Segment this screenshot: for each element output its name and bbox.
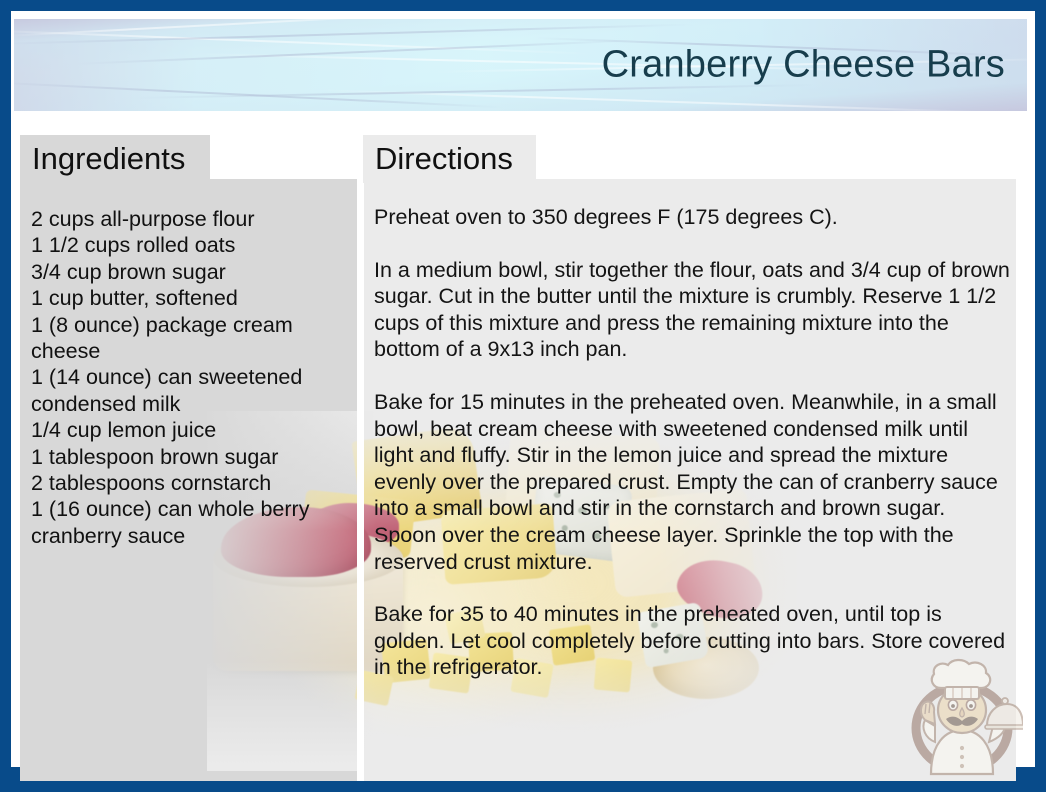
ingredient-item: 1 (14 ounce) can sweetened condensed mil… (31, 364, 342, 417)
recipe-card: Cranberry Cheese Bars (11, 11, 1035, 767)
ingredient-item: 2 cups all-purpose flour (31, 206, 342, 232)
direction-step: Bake for 35 to 40 minutes in the preheat… (374, 601, 1013, 681)
direction-step: Bake for 15 minutes in the preheated ove… (374, 389, 1013, 575)
directions-steps: Preheat oven to 350 degrees F (175 degre… (363, 179, 1023, 681)
tab-ingredients[interactable]: Ingredients (20, 135, 210, 183)
header-banner: Cranberry Cheese Bars (14, 19, 1027, 111)
ingredient-item: 1 cup butter, softened (31, 285, 342, 311)
direction-step: In a medium bowl, stir together the flou… (374, 257, 1013, 363)
ingredient-item: 1 1/2 cups rolled oats (31, 232, 342, 258)
direction-step: Preheat oven to 350 degrees F (175 degre… (374, 204, 1013, 231)
ingredient-item: 1/4 cup lemon juice (31, 417, 342, 443)
ingredient-item: 1 (8 ounce) package cream cheese (31, 312, 342, 365)
ingredient-item: 1 (16 ounce) can whole berry cranberry s… (31, 496, 342, 549)
ingredient-item: 3/4 cup brown sugar (31, 259, 342, 285)
ingredients-list: 2 cups all-purpose flour1 1/2 cups rolle… (20, 179, 350, 549)
tab-directions[interactable]: Directions (363, 135, 536, 183)
recipe-card-page: Cranberry Cheese Bars (0, 0, 1046, 792)
ingredient-item: 1 tablespoon brown sugar (31, 444, 342, 470)
ingredient-item: 2 tablespoons cornstarch (31, 470, 342, 496)
page-title: Cranberry Cheese Bars (602, 44, 1005, 87)
